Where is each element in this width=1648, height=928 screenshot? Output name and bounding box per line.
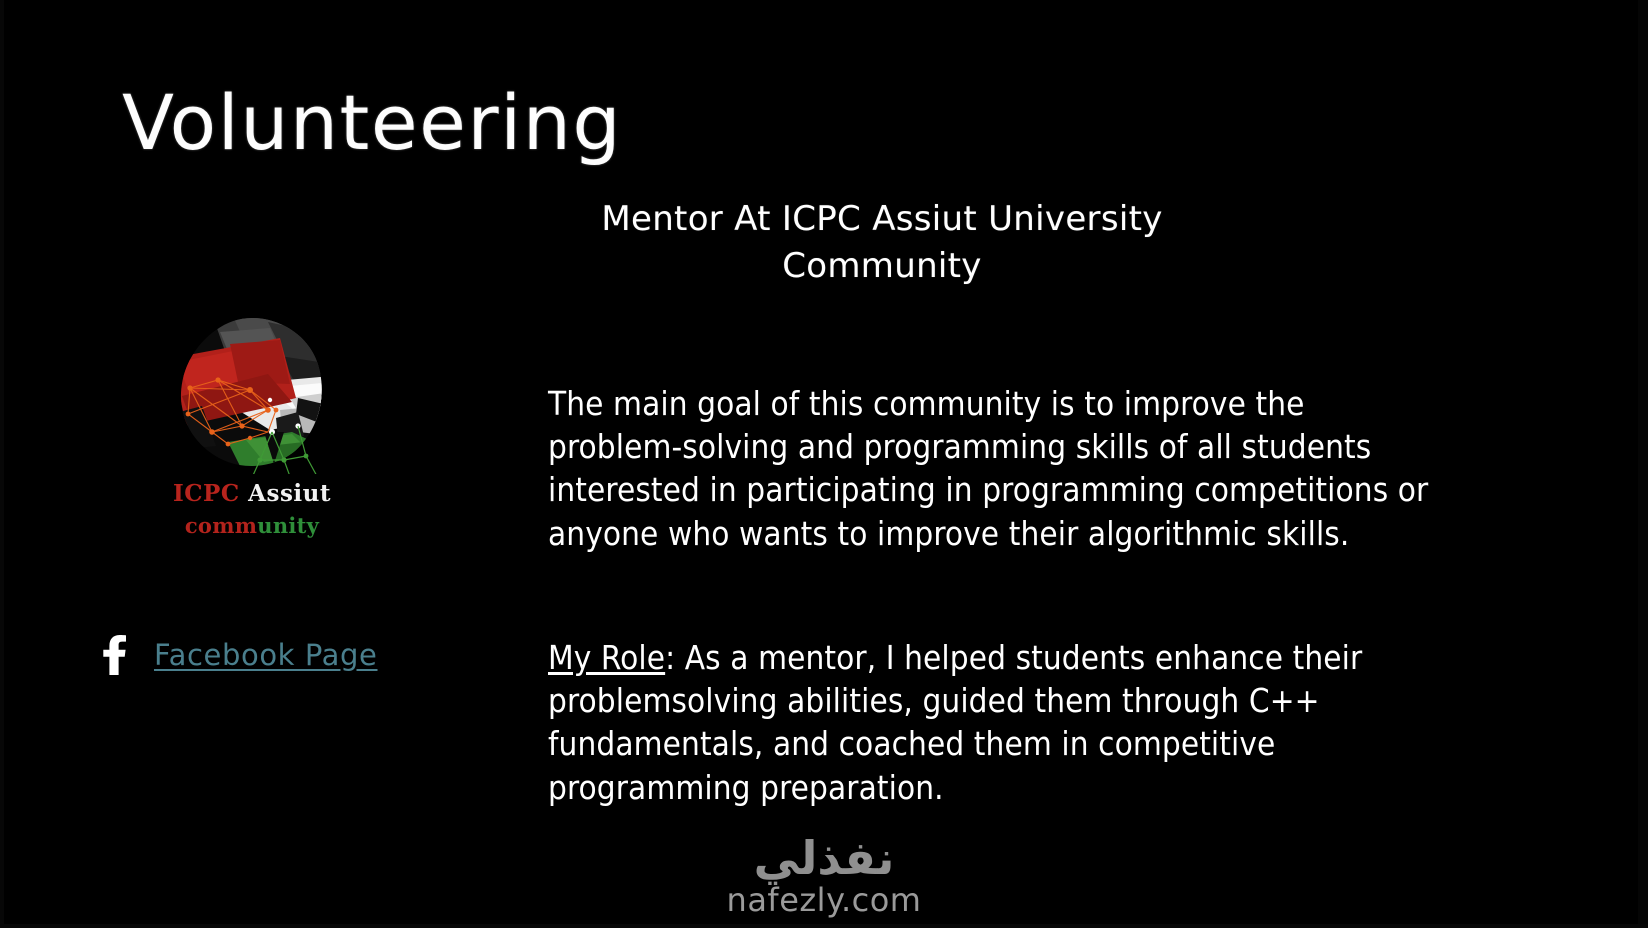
logo-caption-secondary: community xyxy=(152,513,352,538)
my-role-separator: : xyxy=(665,638,685,677)
logo-caption-primary: ICPC Assiut xyxy=(152,480,352,507)
slide-content-column: Mentor At ICPC Assiut University Communi… xyxy=(548,196,1448,290)
logo-caption-icpc: ICPC xyxy=(173,480,240,507)
right-edge-strip xyxy=(1638,0,1648,928)
logo-caption-assiut: Assiut xyxy=(240,480,331,507)
logo-caption-unity: unity xyxy=(257,513,319,538)
section-heading: Mentor At ICPC Assiut University Communi… xyxy=(548,196,1216,290)
icpc-assiut-brain-logo xyxy=(172,314,332,474)
logo-caption-comm: comm xyxy=(185,513,257,538)
bottom-edge-strip xyxy=(0,924,1648,928)
my-role-paragraph: My Role: As a mentor, I helped students … xyxy=(548,636,1428,809)
left-edge-strip xyxy=(0,0,4,928)
watermark-arabic: نفذلي xyxy=(0,835,1648,881)
facebook-page-link-row[interactable]: Facebook Page xyxy=(100,634,378,676)
watermark: نفذلي nafezly.com xyxy=(0,835,1648,918)
organization-logo-block: ICPC Assiut community xyxy=(152,314,352,538)
page-title: Volunteering xyxy=(122,78,622,167)
facebook-icon[interactable] xyxy=(100,634,128,676)
my-role-label: My Role xyxy=(548,638,665,677)
community-goal-paragraph: The main goal of this community is to im… xyxy=(548,382,1446,555)
watermark-latin: nafezly.com xyxy=(0,883,1648,918)
facebook-page-link[interactable]: Facebook Page xyxy=(154,638,378,672)
